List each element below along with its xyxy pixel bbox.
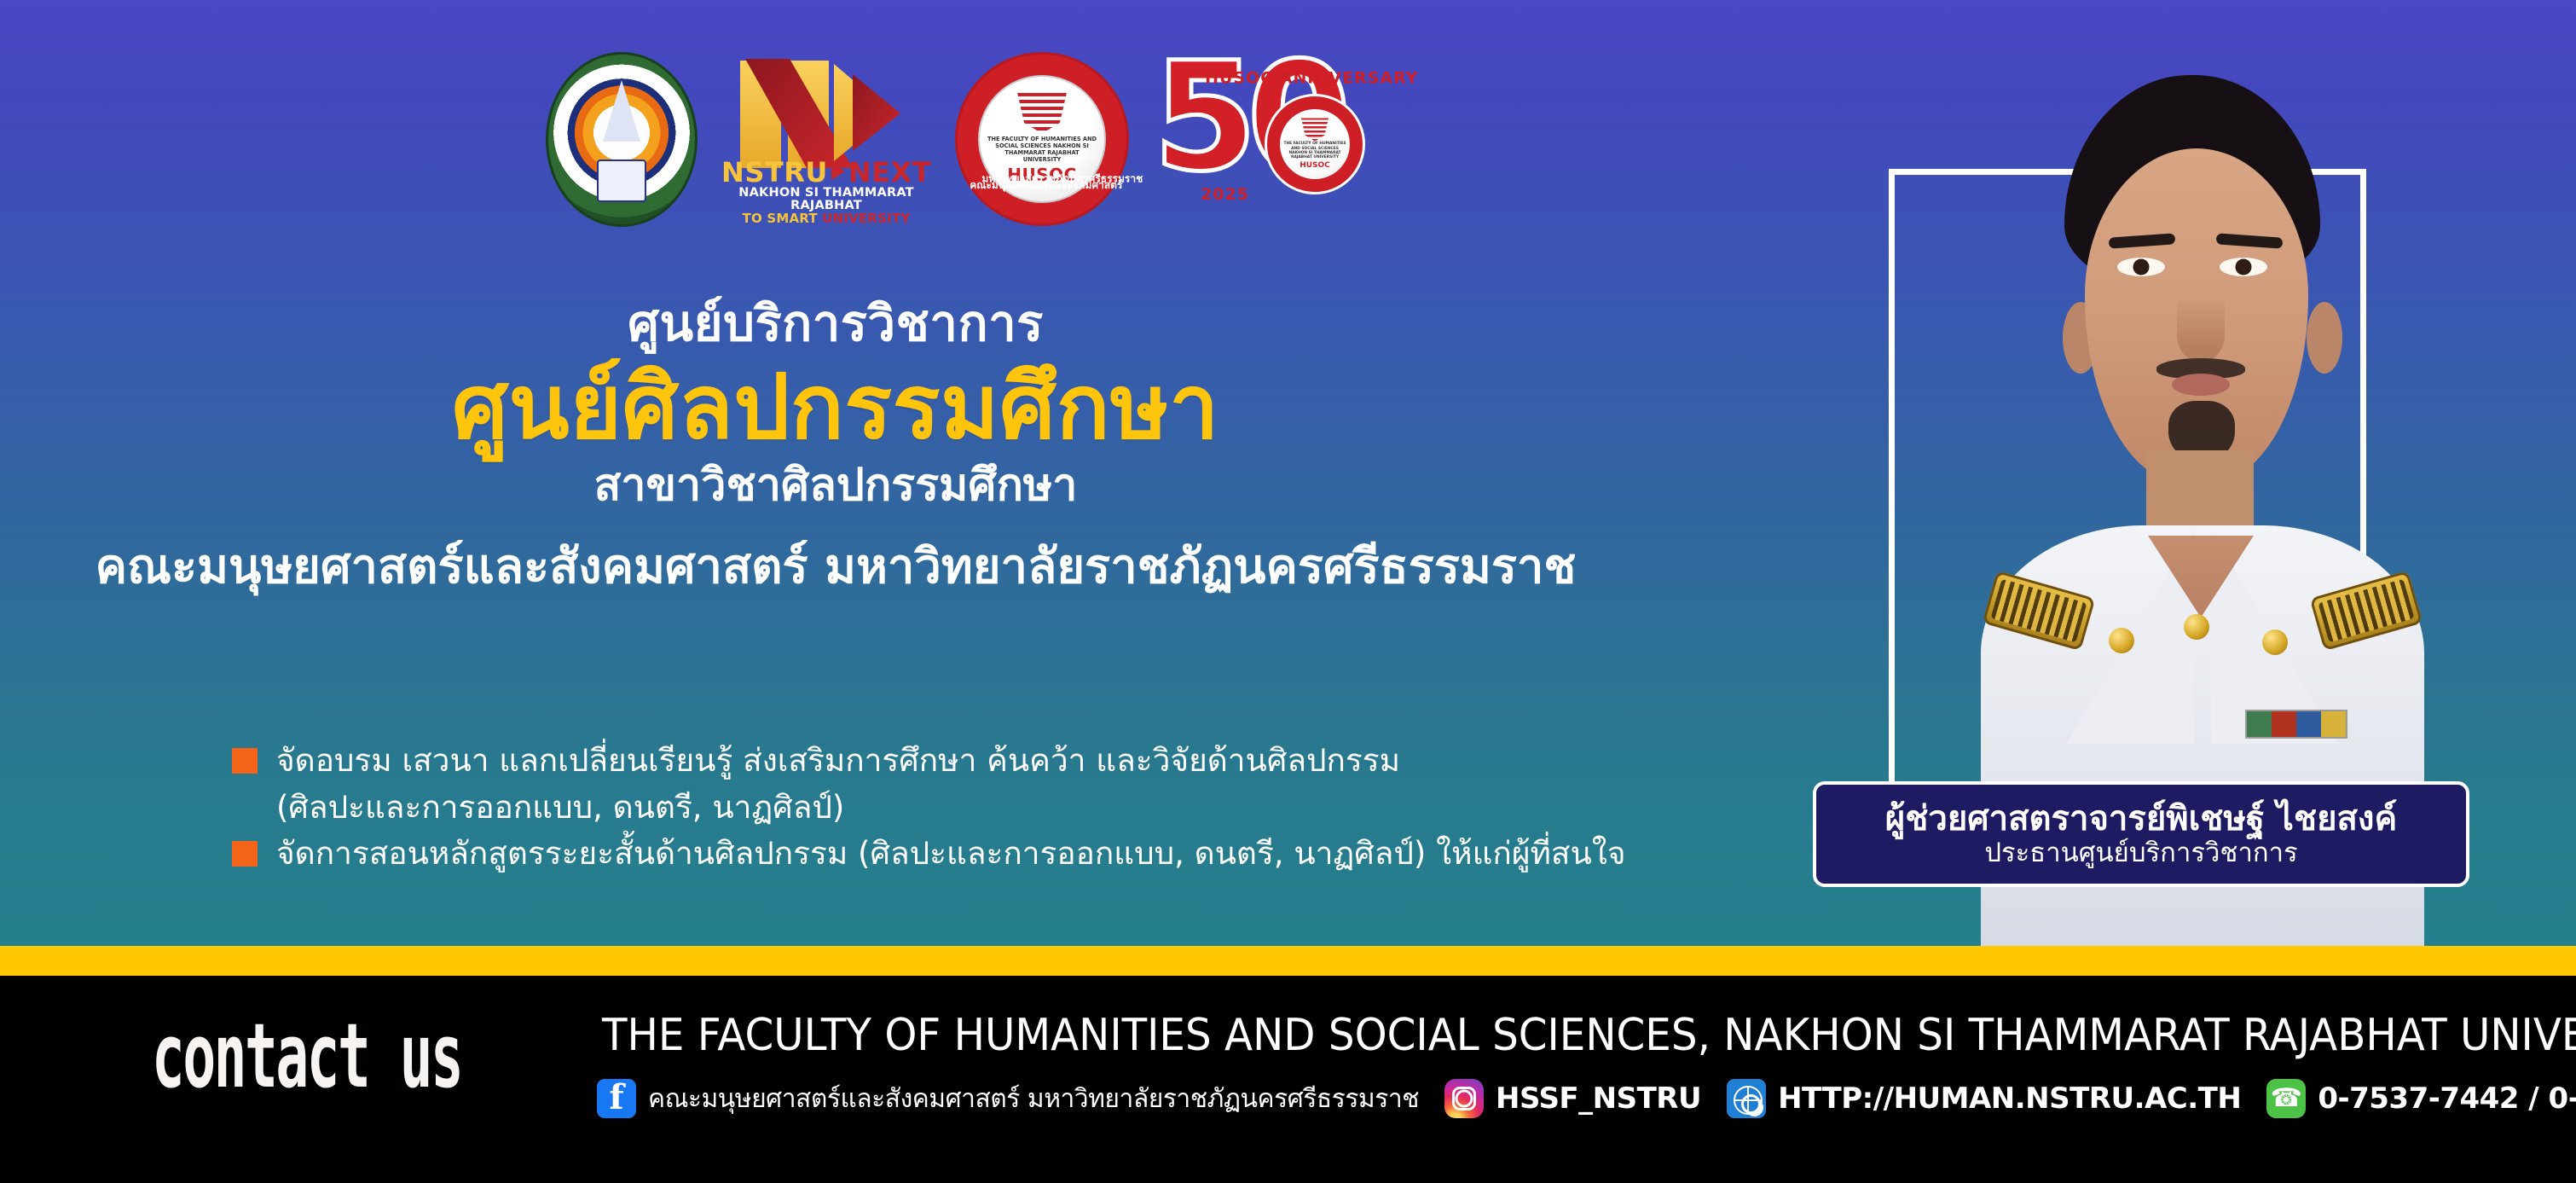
bullet-text: (ศิลปะและการออกแบบ, ดนตรี, นาฏศิลป์): [276, 786, 844, 831]
nstru-university-seal-icon: [546, 52, 698, 227]
headline-block: ศูนย์บริการวิชาการ ศูนย์ศิลปกรรมศึกษา สา…: [0, 297, 1671, 594]
footer-channel-facebook[interactable]: คณะมนุษยศาสตร์และสังคมศาสตร์ มหาวิทยาลัย…: [597, 1079, 1419, 1119]
faculty-text: คณะมนุษยศาสตร์และสังคมศาสตร์ มหาวิทยาลัย…: [0, 541, 1671, 594]
nstru-next-word-nstru: NSTRU: [721, 156, 828, 188]
banner-root: NSTRUNEXT NAKHON SI THAMMARAT RAJABHAT T…: [0, 0, 2576, 1183]
footer-channel-phone[interactable]: 0-7537-7442 / 0-7580-9842: [2266, 1079, 2576, 1118]
husoc-50th-anniversary-icon: 50 THE FACULTY OF HUMANITIES AND SOCIAL …: [1151, 48, 1377, 231]
bullet-square-icon: [232, 748, 258, 774]
footer-channel-instagram[interactable]: HSSF_NSTRU: [1444, 1079, 1701, 1118]
play-triangle-icon: [831, 163, 845, 180]
bullet-text: จัดอบรม เสวนา แลกเปลี่ยนเรียนรู้ ส่งเสริ…: [276, 739, 1400, 784]
bullet-list: จัดอบรม เสวนา แลกเปลี่ยนเรียนรู้ ส่งเสริ…: [232, 739, 1699, 879]
nstru-next-tagline-2a: TO SMART: [743, 211, 818, 226]
portrait-ribbon-bar: [2245, 710, 2347, 739]
nameplate-name: ผู้ช่วยศาสตราจารย์พิเชษฐ์ ไชยสงค์: [1885, 801, 2397, 837]
anniversary-year: 2025: [1201, 185, 1249, 204]
instagram-icon[interactable]: [1444, 1079, 1484, 1118]
husoc-ring-bottom: มหาวิทยาลัยราชภัฏนครศรีธรรมราช: [981, 171, 1143, 188]
portrait-button-collar: [2184, 614, 2209, 640]
portrait-mouth: [2172, 374, 2230, 396]
hero-panel: NSTRUNEXT NAKHON SI THAMMARAT RAJABHAT T…: [0, 0, 2576, 946]
kicker-text: ศูนย์บริการวิชาการ: [0, 297, 1671, 351]
nameplate-role: ประธานศูนย์บริการวิชาการ: [1984, 839, 2297, 867]
contact-us-heading: contact us: [152, 1012, 461, 1100]
logo-strip: NSTRUNEXT NAKHON SI THAMMARAT RAJABHAT T…: [546, 49, 1377, 229]
list-item: (ศิลปะและการออกแบบ, ดนตรี, นาฏศิลป์): [232, 786, 1699, 831]
facebook-label: คณะมนุษยศาสตร์และสังคมศาสตร์ มหาวิทยาลัย…: [648, 1079, 1419, 1119]
portrait-button-right: [2262, 629, 2288, 655]
husoc-seal-icon: คณะมนุษยศาสตร์และสังคมศาสตร์ มหาวิทยาลัย…: [955, 52, 1129, 226]
page-title: ศูนย์ศิลปกรรมศึกษา: [0, 357, 1671, 456]
portrait-eye-right: [2220, 258, 2267, 276]
facebook-icon[interactable]: [597, 1079, 636, 1118]
portrait-button-left: [2109, 628, 2134, 653]
anniversary-arc-text: HUSOC ANNIVERSARY 2025: [1151, 48, 1377, 231]
portrait-ear-right: [2307, 302, 2342, 374]
phone-icon[interactable]: [2266, 1079, 2306, 1118]
website-icon[interactable]: [1727, 1079, 1766, 1118]
instagram-label: HSSF_NSTRU: [1496, 1082, 1701, 1116]
bullet-square-icon: [232, 841, 258, 867]
phone-label: 0-7537-7442 / 0-7580-9842: [2318, 1082, 2576, 1116]
portrait-nose: [2177, 297, 2225, 360]
footer-org-line: THE FACULTY OF HUMANITIES AND SOCIAL SCI…: [602, 1013, 2378, 1058]
list-item: จัดอบรม เสวนา แลกเปลี่ยนเรียนรู้ ส่งเสริ…: [232, 739, 1699, 784]
nameplate: ผู้ช่วยศาสตราจารย์พิเชษฐ์ ไชยสงค์ ประธาน…: [1813, 781, 2469, 887]
footer-channel-website[interactable]: HTTP://HUMAN.NSTRU.AC.TH: [1727, 1079, 2241, 1118]
portrait-eye-left: [2117, 258, 2165, 276]
nstru-next-word-next: NEXT: [848, 156, 931, 188]
website-label: HTTP://HUMAN.NSTRU.AC.TH: [1778, 1082, 2241, 1116]
footer-channels: คณะมนุษยศาสตร์และสังคมศาสตร์ มหาวิทยาลัย…: [597, 1075, 2576, 1122]
list-item: จัดการสอนหลักสูตรระยะสั้นด้านศิลปกรรม (ศ…: [232, 832, 1699, 877]
nstru-next-tagline: NAKHON SI THAMMARAT RAJABHAT: [720, 187, 933, 212]
bullet-text: จัดการสอนหลักสูตรระยะสั้นด้านศิลปกรรม (ศ…: [276, 832, 1626, 877]
yellow-divider: [0, 946, 2576, 976]
nstru-next-logo-icon: NSTRUNEXT NAKHON SI THAMMARAT RAJABHAT T…: [720, 49, 933, 229]
anniversary-arc-label: HUSOC ANNIVERSARY: [1205, 68, 1418, 87]
husoc-seal-ring-text: คณะมนุษยศาสตร์และสังคมศาสตร์ มหาวิทยาลัย…: [958, 55, 1126, 223]
subtitle-text: สาขาวิชาศิลปกรรมศึกษา: [0, 461, 1671, 510]
nstru-next-tagline-2b: UNIVERSITY: [822, 211, 910, 226]
